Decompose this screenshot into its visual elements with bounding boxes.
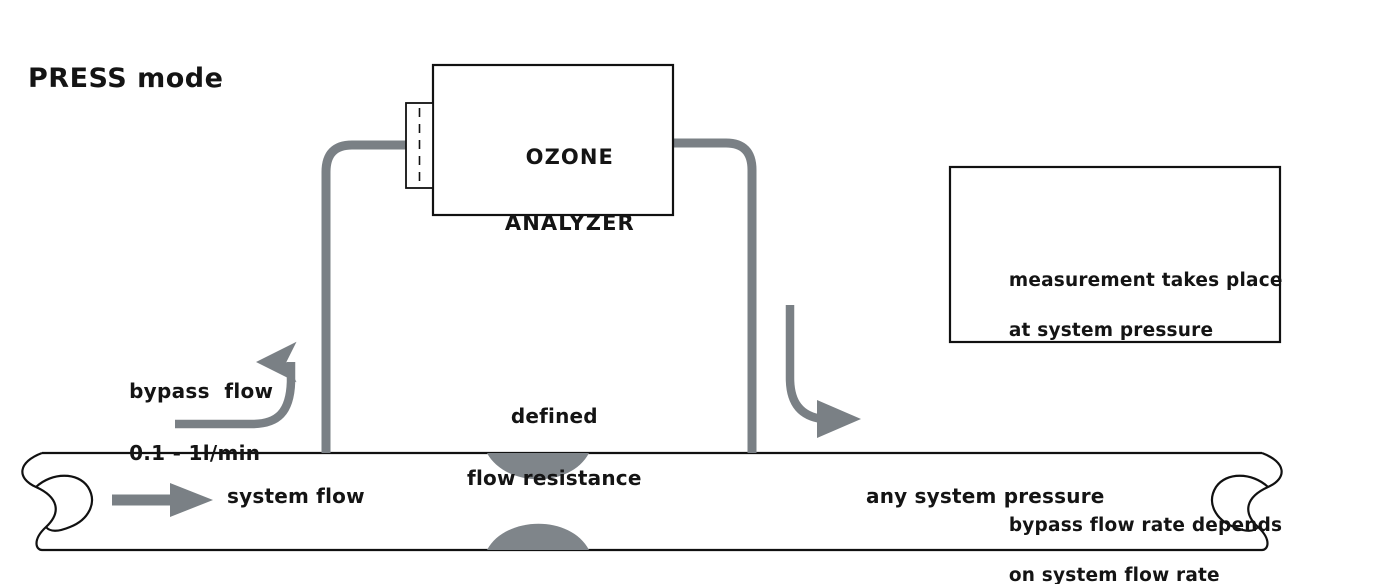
note-paragraph-spacer: [969, 418, 1269, 438]
pipe-break-left: [22, 453, 55, 550]
inlet-filter: [406, 103, 433, 188]
page-title: PRESS mode: [28, 63, 223, 94]
note-paragraph-2-line2: on system flow rate: [1009, 565, 1220, 584]
analyzer-inlet-tube: [326, 145, 406, 453]
press-mode-diagram: PRESS mode OZONE ANALYZER bypass flow 0.…: [0, 0, 1385, 584]
exhaust-return-arrowhead: [817, 400, 861, 438]
note-paragraph-1-line1: measurement takes place: [1009, 270, 1283, 291]
ozone-analyzer-label: OZONE ANALYZER: [433, 108, 673, 273]
flow-resistance-label-line2: flow resistance: [467, 466, 642, 490]
analyzer-outlet-tube: [673, 143, 752, 453]
note-paragraph-2-line1: bypass flow rate depends: [1009, 515, 1282, 536]
bypass-flow-label-line1: bypass flow: [129, 379, 273, 403]
ozone-analyzer-label-line1: OZONE: [526, 145, 614, 169]
note-paragraph-2: bypass flow rate depends on system flow …: [969, 488, 1269, 584]
ozone-analyzer-label-line2: ANALYZER: [505, 211, 635, 235]
note-paragraph-1-line2: at system pressure: [1009, 320, 1213, 341]
orifice-lower-lens: [487, 524, 589, 550]
bypass-flow-label: bypass flow 0.1 - 1l/min: [100, 345, 273, 500]
exhaust-return-line: [790, 305, 830, 419]
bypass-flow-rate-value: 0.1 - 1l/min: [129, 441, 260, 465]
system-flow-label: system flow: [227, 484, 365, 508]
pipe-break-left-loop: [36, 476, 92, 531]
flow-resistance-label: defined flow resistance: [420, 370, 660, 525]
flow-resistance-label-line1: defined: [511, 404, 598, 428]
note-paragraph-1: measurement takes place at system pressu…: [969, 243, 1269, 368]
note-box-text: measurement takes place at system pressu…: [969, 193, 1269, 584]
